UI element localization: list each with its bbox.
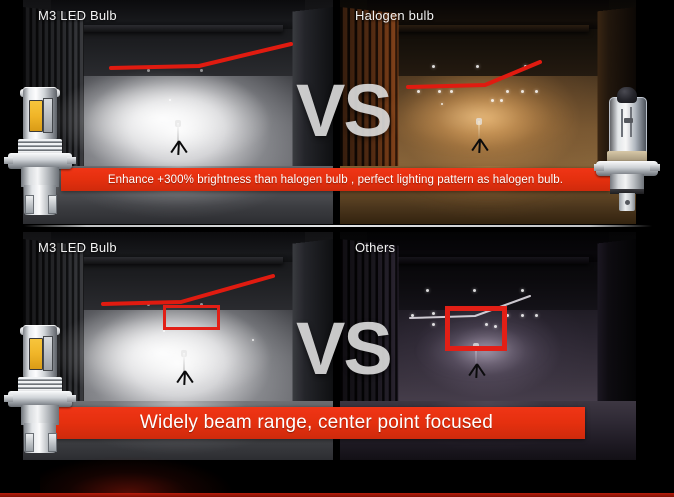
wall-marker-dot (147, 303, 150, 306)
wall-marker-dot (506, 90, 509, 93)
wall-marker-dot (169, 99, 171, 101)
wall-marker-dot (524, 65, 527, 68)
panel-label: Halogen bulb (355, 8, 434, 23)
wall-marker-dot (426, 289, 429, 292)
vs-label-top: VS (296, 74, 391, 148)
vs-label-bottom: VS (296, 312, 391, 386)
wall-marker-dot (441, 103, 443, 105)
tripod-stand (169, 353, 199, 385)
wall-marker-dot (500, 99, 503, 102)
red-focus-rectangle-small (163, 305, 220, 330)
wall-marker-dot (491, 99, 494, 102)
ceiling-joist (73, 25, 284, 32)
banner-bottom: Widely beam range, center point focused (48, 407, 585, 439)
tripod-stand (163, 123, 193, 155)
halogen-h4-bulb-icon (594, 85, 660, 211)
panel-label: M3 LED Bulb (38, 8, 117, 23)
ceiling-joist (387, 25, 588, 32)
wall-marker-dot (417, 90, 420, 93)
wall-marker-dot (521, 90, 524, 93)
ceiling-joist (387, 257, 588, 264)
panel-label: Others (355, 240, 395, 255)
wall-marker-dot (438, 90, 441, 93)
wall-marker-dot (450, 90, 453, 93)
wall-marker-dot (432, 312, 435, 315)
led-h4-bulb-icon (4, 87, 76, 217)
bottom-red-strip (0, 493, 674, 497)
wall-marker-dot (163, 330, 165, 332)
ceiling-joist (73, 257, 284, 264)
wall-marker-dot (432, 323, 435, 326)
bottom-red-glow (40, 447, 260, 493)
section-divider (24, 225, 652, 227)
wall-marker-dot (521, 289, 524, 292)
wall-marker-dot (521, 314, 524, 317)
led-h4-bulb-icon (4, 325, 76, 455)
red-focus-rectangle-large (445, 306, 507, 351)
comparison-poster: M3 LED Bulb (0, 0, 674, 497)
tripod-stand (464, 121, 494, 153)
wall-marker-dot (432, 65, 435, 68)
banner-top: Enhance +300% brightness than halogen bu… (61, 168, 610, 191)
panel-label: M3 LED Bulb (38, 240, 117, 255)
